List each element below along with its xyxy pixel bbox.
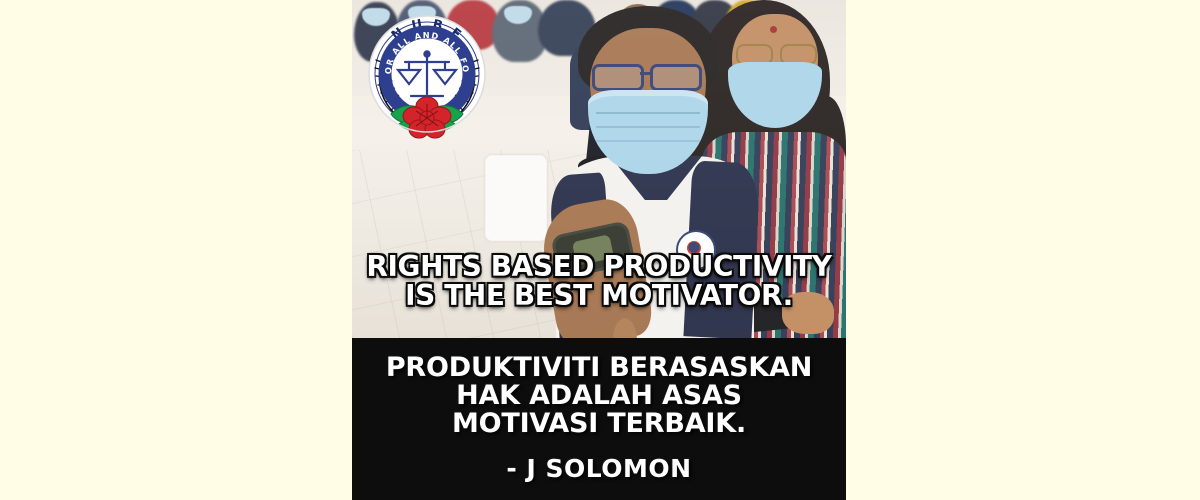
poster-page: N.U.B.E bbox=[0, 0, 1200, 500]
poster-card: N.U.B.E bbox=[352, 0, 846, 500]
attribution: - J SOLOMON bbox=[352, 456, 846, 482]
malay-quote-line3: MOTIVASI TERBAIK. bbox=[352, 410, 846, 438]
caption-panel: PRODUKTIVITI BERASASKAN HAK ADALAH ASAS … bbox=[352, 338, 846, 500]
malay-quote: PRODUKTIVITI BERASASKAN HAK ADALAH ASAS … bbox=[352, 354, 846, 438]
malay-quote-line2: HAK ADALAH ASAS bbox=[352, 382, 846, 410]
seminar-photo: N.U.B.E bbox=[352, 0, 846, 338]
malay-quote-line1: PRODUKTIVITI BERASASKAN bbox=[352, 354, 846, 382]
english-quote: RIGHTS BASED PRODUCTIVITY IS THE BEST MO… bbox=[352, 252, 846, 310]
nube-union-logo: N.U.B.E bbox=[365, 10, 489, 144]
english-quote-line1: RIGHTS BASED PRODUCTIVITY bbox=[357, 252, 841, 281]
english-quote-line2: IS THE BEST MOTIVATOR. bbox=[357, 281, 841, 310]
